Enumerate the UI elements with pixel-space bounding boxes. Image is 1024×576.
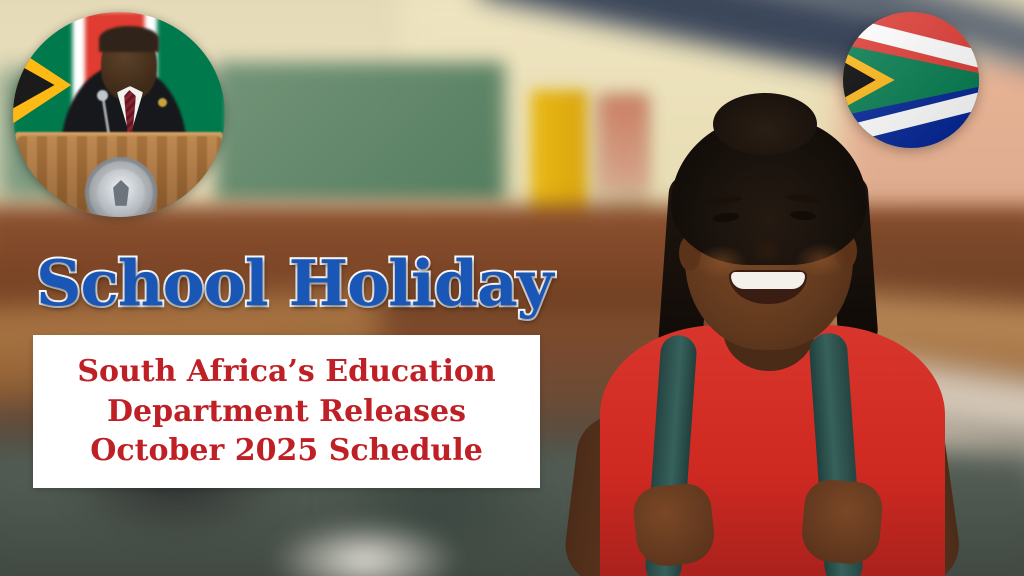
hair-bun — [713, 93, 817, 155]
floor-light-glow — [270, 520, 460, 576]
headline-box: South Africa’s Education Department Rele… — [33, 335, 540, 488]
microphone-icon — [97, 90, 108, 101]
headline-line-1: South Africa’s Education — [77, 352, 495, 392]
student-photo — [545, 85, 965, 576]
south-africa-flag-icon — [843, 12, 979, 148]
nose — [748, 235, 786, 261]
poster-canvas: School Holiday South Africa’s Education … — [0, 0, 1024, 576]
green-chalkboard — [215, 62, 505, 202]
president-photo-circle — [13, 12, 225, 217]
poster-title: School Holiday — [36, 252, 552, 315]
hand-right — [800, 478, 885, 566]
teeth — [731, 272, 805, 289]
president-hair — [99, 26, 159, 52]
headline-line-3: October 2025 Schedule — [90, 431, 483, 471]
lapel-pin-icon — [158, 98, 167, 107]
headline-line-2: Department Releases — [107, 392, 466, 432]
hand-left — [631, 481, 717, 569]
